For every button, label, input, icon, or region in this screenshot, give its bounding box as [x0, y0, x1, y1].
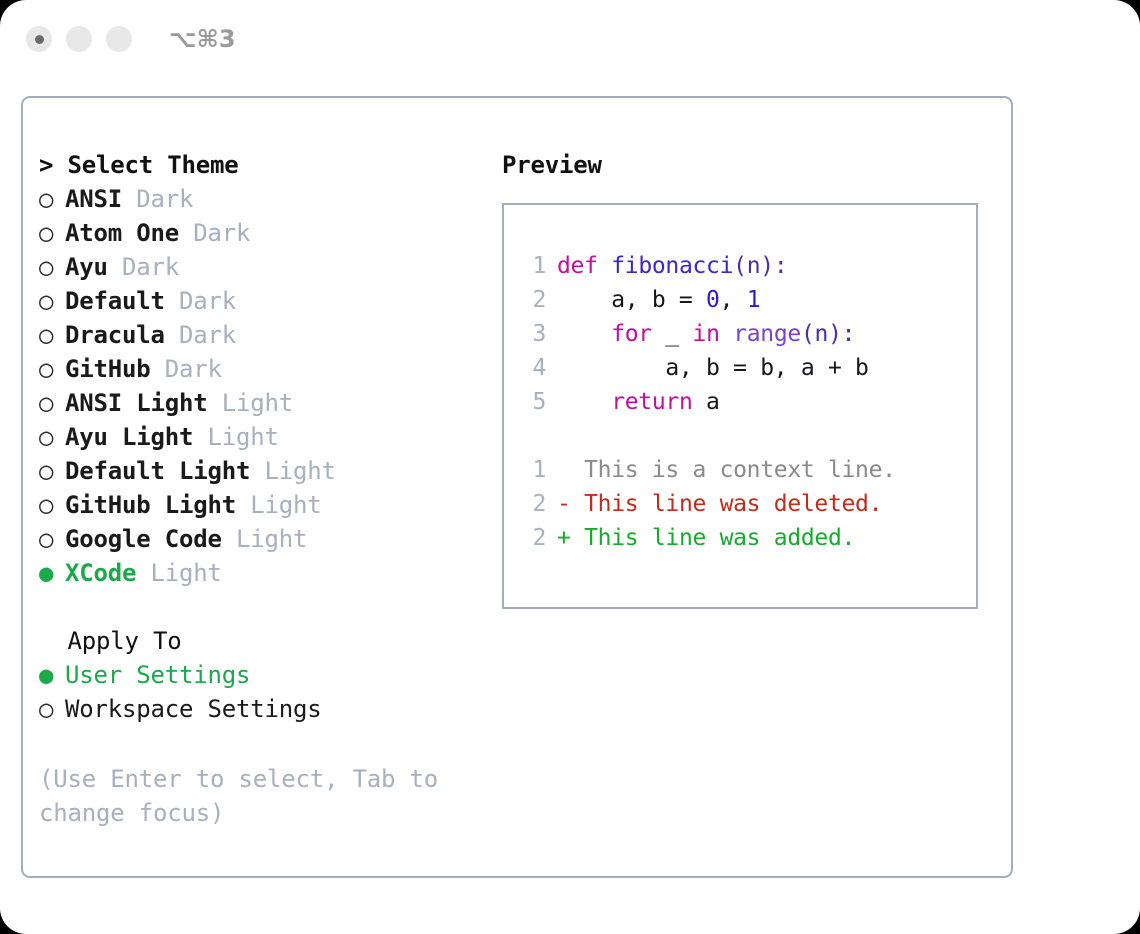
radio-unselected-icon: ○	[39, 284, 65, 318]
code-token	[598, 253, 612, 279]
diff-line: 2+ This line was added.	[520, 521, 976, 555]
radio-unselected-icon: ○	[39, 420, 65, 454]
window-dot-active-indicator	[35, 35, 44, 44]
code-token	[720, 321, 734, 347]
code-token: (	[733, 253, 747, 279]
theme-option-ayu[interactable]: ○Ayu Dark	[39, 250, 489, 284]
line-number: 4	[520, 351, 546, 385]
diff-sign	[557, 457, 571, 483]
theme-option-tag: Light	[193, 423, 279, 451]
window-dot-third[interactable]	[106, 26, 132, 52]
window-dot-second[interactable]	[66, 26, 92, 52]
line-number: 2	[520, 487, 546, 521]
keyboard-hint-text: (Use Enter to select, Tab to change focu…	[39, 762, 439, 830]
code-token: a, b =	[557, 287, 706, 313]
code-token	[557, 321, 611, 347]
code-token: _	[652, 321, 693, 347]
code-token: ,	[720, 287, 747, 313]
code-spacer	[520, 419, 976, 453]
code-line: 1def fibonacci(n):	[520, 249, 976, 283]
apply-to-header: Apply To	[39, 624, 489, 658]
line-number: 5	[520, 385, 546, 419]
diff-sample: 1 This is a context line.2- This line wa…	[520, 453, 976, 555]
theme-option-dracula[interactable]: ○Dracula Dark	[39, 318, 489, 352]
radio-unselected-icon: ○	[39, 352, 65, 386]
theme-option-ayu-light[interactable]: ○Ayu Light Light	[39, 420, 489, 454]
apply-option-label: User Settings	[65, 661, 250, 689]
diff-text: This is a context line.	[571, 457, 896, 483]
preview-title: Preview	[502, 148, 992, 182]
theme-option-label: Google Code	[65, 525, 222, 553]
theme-option-ansi[interactable]: ○ANSI Dark	[39, 182, 489, 216]
code-token: 1	[747, 287, 761, 313]
code-token: def	[557, 253, 598, 279]
theme-option-tag: Dark	[179, 219, 250, 247]
line-number: 2	[520, 283, 546, 317]
theme-option-label: ANSI	[65, 185, 122, 213]
theme-option-label: Default Light	[65, 457, 250, 485]
code-token: in	[693, 321, 720, 347]
code-token: a, b = b, a + b	[557, 355, 869, 381]
select-theme-header: > Select Theme	[39, 148, 489, 182]
theme-option-tag: Light	[222, 525, 308, 553]
code-token: a	[693, 389, 720, 415]
code-token: ):	[760, 253, 787, 279]
radio-unselected-icon: ○	[39, 318, 65, 352]
theme-option-tag: Dark	[151, 355, 222, 383]
apply-option-workspace-settings[interactable]: ○Workspace Settings	[39, 692, 489, 726]
code-token: 0	[706, 287, 720, 313]
theme-option-ansi-light[interactable]: ○ANSI Light Light	[39, 386, 489, 420]
keyboard-shortcut-label: ⌥⌘3	[169, 25, 236, 53]
theme-option-label: Ayu	[65, 253, 108, 281]
theme-option-label: Dracula	[65, 321, 165, 349]
theme-option-default-light[interactable]: ○Default Light Light	[39, 454, 489, 488]
line-number: 1	[520, 453, 546, 487]
theme-option-label: GitHub Light	[65, 491, 236, 519]
radio-unselected-icon: ○	[39, 386, 65, 420]
apply-option-label: Workspace Settings	[65, 695, 322, 723]
code-token: (	[801, 321, 815, 347]
radio-unselected-icon: ○	[39, 454, 65, 488]
theme-option-label: XCode	[65, 559, 136, 587]
theme-option-tag: Light	[208, 389, 294, 417]
radio-unselected-icon: ○	[39, 488, 65, 522]
main-panel: > Select Theme ○ANSI Dark○Atom One Dark○…	[21, 96, 1013, 878]
theme-list[interactable]: ○ANSI Dark○Atom One Dark○Ayu Dark○Defaul…	[39, 182, 489, 590]
radio-selected-icon: ●	[39, 658, 65, 692]
radio-unselected-icon: ○	[39, 692, 65, 726]
theme-option-google-code[interactable]: ○Google Code Light	[39, 522, 489, 556]
code-token: ):	[828, 321, 855, 347]
window-dot-active[interactable]	[26, 26, 52, 52]
theme-option-github-light[interactable]: ○GitHub Light Light	[39, 488, 489, 522]
app-window: ⌥⌘3 > Select Theme ○ANSI Dark○Atom One D…	[0, 0, 1140, 934]
theme-option-tag: Light	[250, 457, 336, 485]
code-token: n	[747, 253, 761, 279]
radio-unselected-icon: ○	[39, 522, 65, 556]
code-line: 5 return a	[520, 385, 976, 419]
diff-sign: -	[557, 491, 571, 517]
theme-option-label: Ayu Light	[65, 423, 193, 451]
code-token: return	[611, 389, 692, 415]
theme-option-tag: Light	[236, 491, 322, 519]
preview-column: Preview 1def fibonacci(n):2 a, b = 0, 13…	[502, 148, 992, 609]
theme-selector-column: > Select Theme ○ANSI Dark○Atom One Dark○…	[39, 148, 489, 830]
code-token: for	[611, 321, 652, 347]
code-line: 3 for _ in range(n):	[520, 317, 976, 351]
radio-unselected-icon: ○	[39, 182, 65, 216]
diff-text: This line was deleted.	[571, 491, 883, 517]
theme-option-github[interactable]: ○GitHub Dark	[39, 352, 489, 386]
code-token	[557, 389, 611, 415]
theme-option-label: ANSI Light	[65, 389, 208, 417]
theme-option-tag: Light	[136, 559, 222, 587]
title-bar: ⌥⌘3	[0, 0, 1140, 78]
diff-line: 1 This is a context line.	[520, 453, 976, 487]
line-number: 2	[520, 521, 546, 555]
diff-text: This line was added.	[571, 525, 856, 551]
code-token: range	[733, 321, 801, 347]
apply-option-user-settings[interactable]: ●User Settings	[39, 658, 489, 692]
code-line: 2 a, b = 0, 1	[520, 283, 976, 317]
code-sample: 1def fibonacci(n):2 a, b = 0, 13 for _ i…	[520, 249, 976, 419]
theme-option-tag: Dark	[165, 287, 236, 315]
radio-unselected-icon: ○	[39, 216, 65, 250]
theme-option-label: Default	[65, 287, 165, 315]
line-number: 1	[520, 249, 546, 283]
theme-option-tag: Dark	[165, 321, 236, 349]
theme-option-xcode[interactable]: ●XCode Light	[39, 556, 489, 590]
preview-box: 1def fibonacci(n):2 a, b = 0, 13 for _ i…	[502, 203, 978, 609]
line-number: 3	[520, 317, 546, 351]
theme-option-label: GitHub	[65, 355, 151, 383]
theme-option-label: Atom One	[65, 219, 179, 247]
theme-option-tag: Dark	[122, 185, 193, 213]
theme-option-default[interactable]: ○Default Dark	[39, 284, 489, 318]
radio-unselected-icon: ○	[39, 250, 65, 284]
code-token: fibonacci	[611, 253, 733, 279]
theme-option-atom-one[interactable]: ○Atom One Dark	[39, 216, 489, 250]
code-token: n	[815, 321, 829, 347]
diff-sign: +	[557, 525, 571, 551]
diff-line: 2- This line was deleted.	[520, 487, 976, 521]
apply-to-list[interactable]: ●User Settings○Workspace Settings	[39, 658, 489, 726]
theme-option-tag: Dark	[108, 253, 179, 281]
radio-selected-icon: ●	[39, 556, 65, 590]
code-line: 4 a, b = b, a + b	[520, 351, 976, 385]
